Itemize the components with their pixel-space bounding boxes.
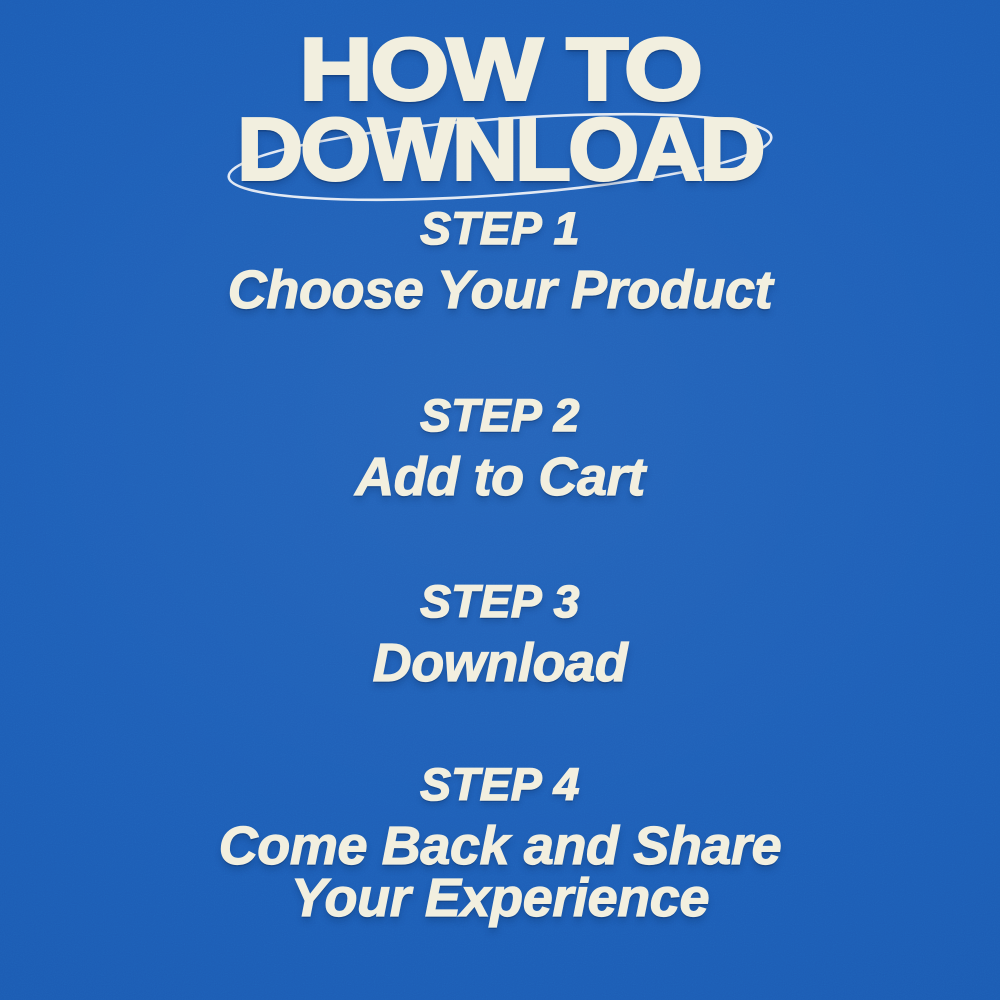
step-title-3: Download [0,638,1000,690]
step-title-4: Come Back and Share Your Experience [0,821,1000,925]
poster-headline: HOW TO DOWNLOAD [0,34,1000,200]
step-label-1: STEP 1 [0,206,1000,251]
step-label-2: STEP 2 [0,393,1000,438]
how-to-download-poster: HOW TO DOWNLOAD STEP 1 Choose Your Produ… [0,0,1000,1000]
step-title-2: Add to Cart [0,452,1000,504]
headline-line-1: HOW TO [0,33,1000,110]
step-item-2: STEP 2 Add to Cart [0,393,1000,504]
headline-line-2-row: DOWNLOAD [0,114,1000,200]
headline-line-2: DOWNLOAD [0,113,1000,188]
step-title-1: Choose Your Product [0,265,1000,317]
step-item-1: STEP 1 Choose Your Product [0,206,1000,317]
steps-list: STEP 1 Choose Your Product STEP 2 Add to… [0,206,1000,925]
step-label-3: STEP 3 [0,579,1000,624]
step-label-4: STEP 4 [0,762,1000,807]
step-item-4: STEP 4 Come Back and Share Your Experien… [0,762,1000,925]
step-item-3: STEP 3 Download [0,579,1000,690]
